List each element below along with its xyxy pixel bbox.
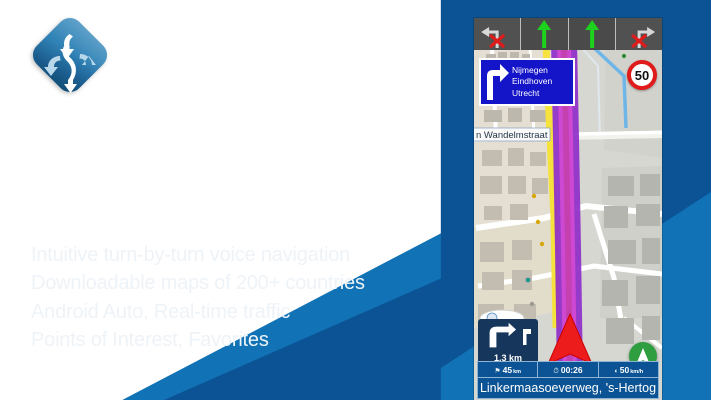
- lane-indicator-2: [521, 18, 568, 50]
- destination-list: Nijmegen Eindhoven Utrecht: [511, 65, 552, 99]
- current-speed-unit: km/h: [630, 369, 643, 375]
- turn-right-arrow-icon: [481, 60, 511, 104]
- clock-icon: ⏱: [553, 368, 558, 376]
- list-item: Downloadable maps of 200+ countries: [31, 269, 431, 297]
- speedometer-icon: ◖: [614, 368, 618, 375]
- lane-straight-allowed-icon: [521, 18, 567, 50]
- navigation-status-bar: ⚑ 45 km ⏱ 00:26 ◖ 50 km/h Linkermaasoeve…: [477, 361, 659, 399]
- mapfactor-navigator-road-diamond-icon: [31, 16, 109, 96]
- page-title: Offline GPS navigation: [31, 181, 382, 219]
- destination-item: Eindhoven: [512, 76, 552, 87]
- lane-assist-bar: [474, 18, 662, 50]
- turn-right-with-exit-icon: [481, 321, 535, 349]
- promo-banner: Offline GPS navigation Intuitive turn-by…: [0, 0, 711, 400]
- lane-indicator-4: [616, 18, 662, 50]
- svg-text:n Wandelmstraat: n Wandelmstraat: [476, 130, 548, 141]
- lane-left-blocked-icon: [474, 18, 520, 50]
- remaining-time-stat: ⏱ 00:26: [538, 362, 598, 377]
- destination-item: Nijmegen: [512, 65, 552, 76]
- current-street-name: Linkermaasoeverweg, 's-Hertog: [478, 378, 658, 398]
- remaining-time-value: 00:26: [561, 365, 583, 375]
- remaining-distance-unit: km: [513, 369, 521, 375]
- feature-list: Intuitive turn-by-turn voice navigation …: [31, 241, 431, 355]
- lane-right-blocked-icon: [616, 18, 662, 50]
- app-logo: [31, 16, 109, 96]
- flag-icon: ⚑: [494, 367, 500, 375]
- map-street-label: n Wandelmstraat: [474, 128, 550, 141]
- speed-limit-sign-icon: 50: [627, 60, 657, 90]
- list-item: Android Auto, Real-time traffic: [31, 298, 431, 326]
- remaining-distance-value: 45: [503, 365, 512, 375]
- lane-straight-allowed-icon: [569, 18, 615, 50]
- destination-item: Utrecht: [512, 88, 552, 99]
- list-item: Intuitive turn-by-turn voice navigation: [31, 241, 431, 269]
- lane-indicator-3: [569, 18, 616, 50]
- remaining-distance-stat: ⚑ 45 km: [478, 362, 538, 377]
- list-item: Points of Interest, Favorites: [31, 326, 431, 354]
- current-speed-stat: ◖ 50 km/h: [599, 362, 658, 377]
- trip-stats-row: ⚑ 45 km ⏱ 00:26 ◖ 50 km/h: [478, 362, 658, 378]
- next-turn-panel[interactable]: 1.3 km: [478, 319, 538, 365]
- app-screenshot: n Wandelmstraat: [474, 18, 662, 400]
- lane-indicator-1: [474, 18, 521, 50]
- destination-sign: Nijmegen Eindhoven Utrecht: [479, 58, 575, 106]
- current-speed-value: 50: [620, 365, 629, 375]
